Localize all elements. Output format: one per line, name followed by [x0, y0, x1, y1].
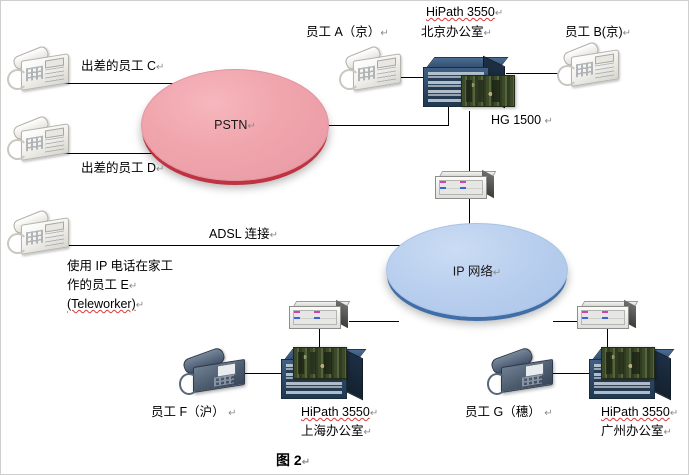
hg1500-board-icon[interactable]	[461, 75, 515, 107]
router-front-icon	[577, 306, 629, 329]
hipath-3550-guangzhou[interactable]	[587, 349, 673, 401]
pilcrow-mark: ↵	[156, 164, 164, 175]
label-hipath-guangzhou-line2: 广州办公室↵	[601, 424, 672, 440]
router-shanghai[interactable]	[289, 301, 351, 329]
label-teleworker-line3: (Teleworker)↵	[67, 297, 144, 313]
phone-cord-icon	[557, 65, 578, 86]
label-employee-b: 员工 B(京)↵	[565, 25, 631, 41]
phone-cord-icon	[7, 69, 28, 90]
router-front-icon	[289, 306, 341, 329]
pilcrow-mark: ↵	[270, 230, 278, 241]
phone-keypad-icon	[26, 230, 43, 246]
pilcrow-mark: ↵	[302, 457, 310, 468]
pilcrow-mark: ↵	[136, 300, 144, 311]
pilcrow-mark: ↵	[664, 427, 672, 438]
label-hipath-guangzhou-line1: HiPath 3550↵	[601, 405, 678, 421]
label-employee-f: 员工 F（沪） ↵	[151, 405, 236, 421]
line-hg1500-to-router-beijing	[469, 111, 470, 174]
phone-cord-icon	[7, 139, 28, 160]
hipath-3550-beijing[interactable]	[421, 57, 507, 109]
label-teleworker-line1: 使用 IP 电话在家工	[67, 259, 173, 274]
analog-phone-employee-d[interactable]	[7, 119, 69, 161]
pilcrow-mark: ↵	[247, 121, 255, 132]
label-hg1500: HG 1500 ↵	[491, 113, 553, 129]
cloud-ip-network[interactable]: IP 网络↵	[386, 223, 568, 317]
label-adsl-connection: ADSL 连接↵	[209, 227, 278, 243]
cloud-ip-network-label: IP 网络↵	[387, 261, 567, 280]
line-hipath-beijing-to-phone-b	[506, 73, 559, 74]
hg1500-board-icon[interactable]	[601, 347, 655, 379]
cloud-pstn[interactable]: PSTN↵	[141, 69, 329, 181]
label-employee-d: 出差的员工 D↵	[81, 161, 164, 177]
line-phone-c-to-pstn	[63, 83, 178, 84]
label-employee-g: 员工 G（穗） ↵	[465, 405, 553, 421]
phone-keypad-icon	[26, 136, 43, 152]
label-employee-c: 出差的员工 C↵	[81, 59, 164, 75]
phone-cord-icon	[339, 69, 360, 90]
pilcrow-mark: ↵	[545, 116, 553, 127]
pilcrow-mark: ↵	[364, 427, 372, 438]
hipath-3550-shanghai[interactable]	[279, 349, 365, 401]
router-front-icon	[435, 176, 487, 199]
line-phone-g-to-hipath-guangzhou	[549, 373, 591, 374]
board-chips-icon	[606, 352, 650, 374]
pilcrow-mark: ↵	[493, 268, 501, 279]
analog-phone-employee-b[interactable]	[557, 45, 619, 87]
phone-keypad-icon	[26, 66, 43, 82]
line-teleworker-adsl-to-ip-network	[63, 245, 401, 246]
figure-caption: 图 2↵	[276, 450, 310, 470]
router-led-icon	[460, 181, 466, 194]
ip-phone-employee-g[interactable]	[487, 349, 555, 395]
label-hipath-shanghai-line2: 上海办公室↵	[301, 424, 372, 440]
pilcrow-mark: ↵	[129, 281, 137, 292]
pilcrow-mark: ↵	[156, 62, 164, 73]
pilcrow-mark: ↵	[670, 408, 678, 419]
network-diagram: PSTN↵ IP 网络↵	[0, 0, 689, 475]
router-led-icon	[582, 311, 588, 324]
hg1500-board-icon[interactable]	[293, 347, 347, 379]
pilcrow-mark: ↵	[495, 8, 503, 19]
analog-phone-teleworker-e[interactable]	[7, 213, 69, 255]
phone-keypad-icon	[576, 62, 593, 78]
board-chips-icon	[298, 352, 342, 374]
pilcrow-mark: ↵	[623, 28, 631, 39]
pilcrow-mark: ↵	[370, 408, 378, 419]
analog-phone-employee-c[interactable]	[7, 49, 69, 91]
pilcrow-mark: ↵	[544, 408, 552, 419]
ip-phone-employee-f[interactable]	[179, 349, 247, 395]
line-router-shanghai-to-ip-network	[349, 321, 399, 322]
phone-keypad-icon	[358, 66, 375, 82]
label-hipath-shanghai-line1: HiPath 3550↵	[301, 405, 378, 421]
router-led-icon	[440, 181, 446, 194]
pilcrow-mark: ↵	[228, 408, 236, 419]
router-led-icon	[294, 311, 300, 324]
cloud-pstn-label: PSTN↵	[142, 118, 328, 132]
phone-cord-icon	[7, 233, 28, 254]
router-beijing[interactable]	[435, 171, 497, 199]
router-guangzhou[interactable]	[577, 301, 639, 329]
ip-phone-cord-icon	[487, 373, 507, 395]
router-led-icon	[314, 311, 320, 324]
ip-phone-cord-icon	[179, 373, 199, 395]
label-employee-a: 员工 A（京）↵	[306, 25, 389, 41]
label-hipath-beijing-line1: HiPath 3550↵	[426, 5, 503, 21]
analog-phone-employee-a[interactable]	[339, 49, 401, 91]
line-pstn-to-hipath-beijing	[321, 125, 449, 126]
pilcrow-mark: ↵	[380, 28, 388, 39]
router-led-icon	[602, 311, 608, 324]
label-hipath-beijing-line2: 北京办公室↵	[421, 25, 492, 41]
board-chips-icon	[466, 80, 510, 102]
label-teleworker-line2: 作的员工 E↵	[67, 278, 137, 294]
pilcrow-mark: ↵	[484, 28, 492, 39]
